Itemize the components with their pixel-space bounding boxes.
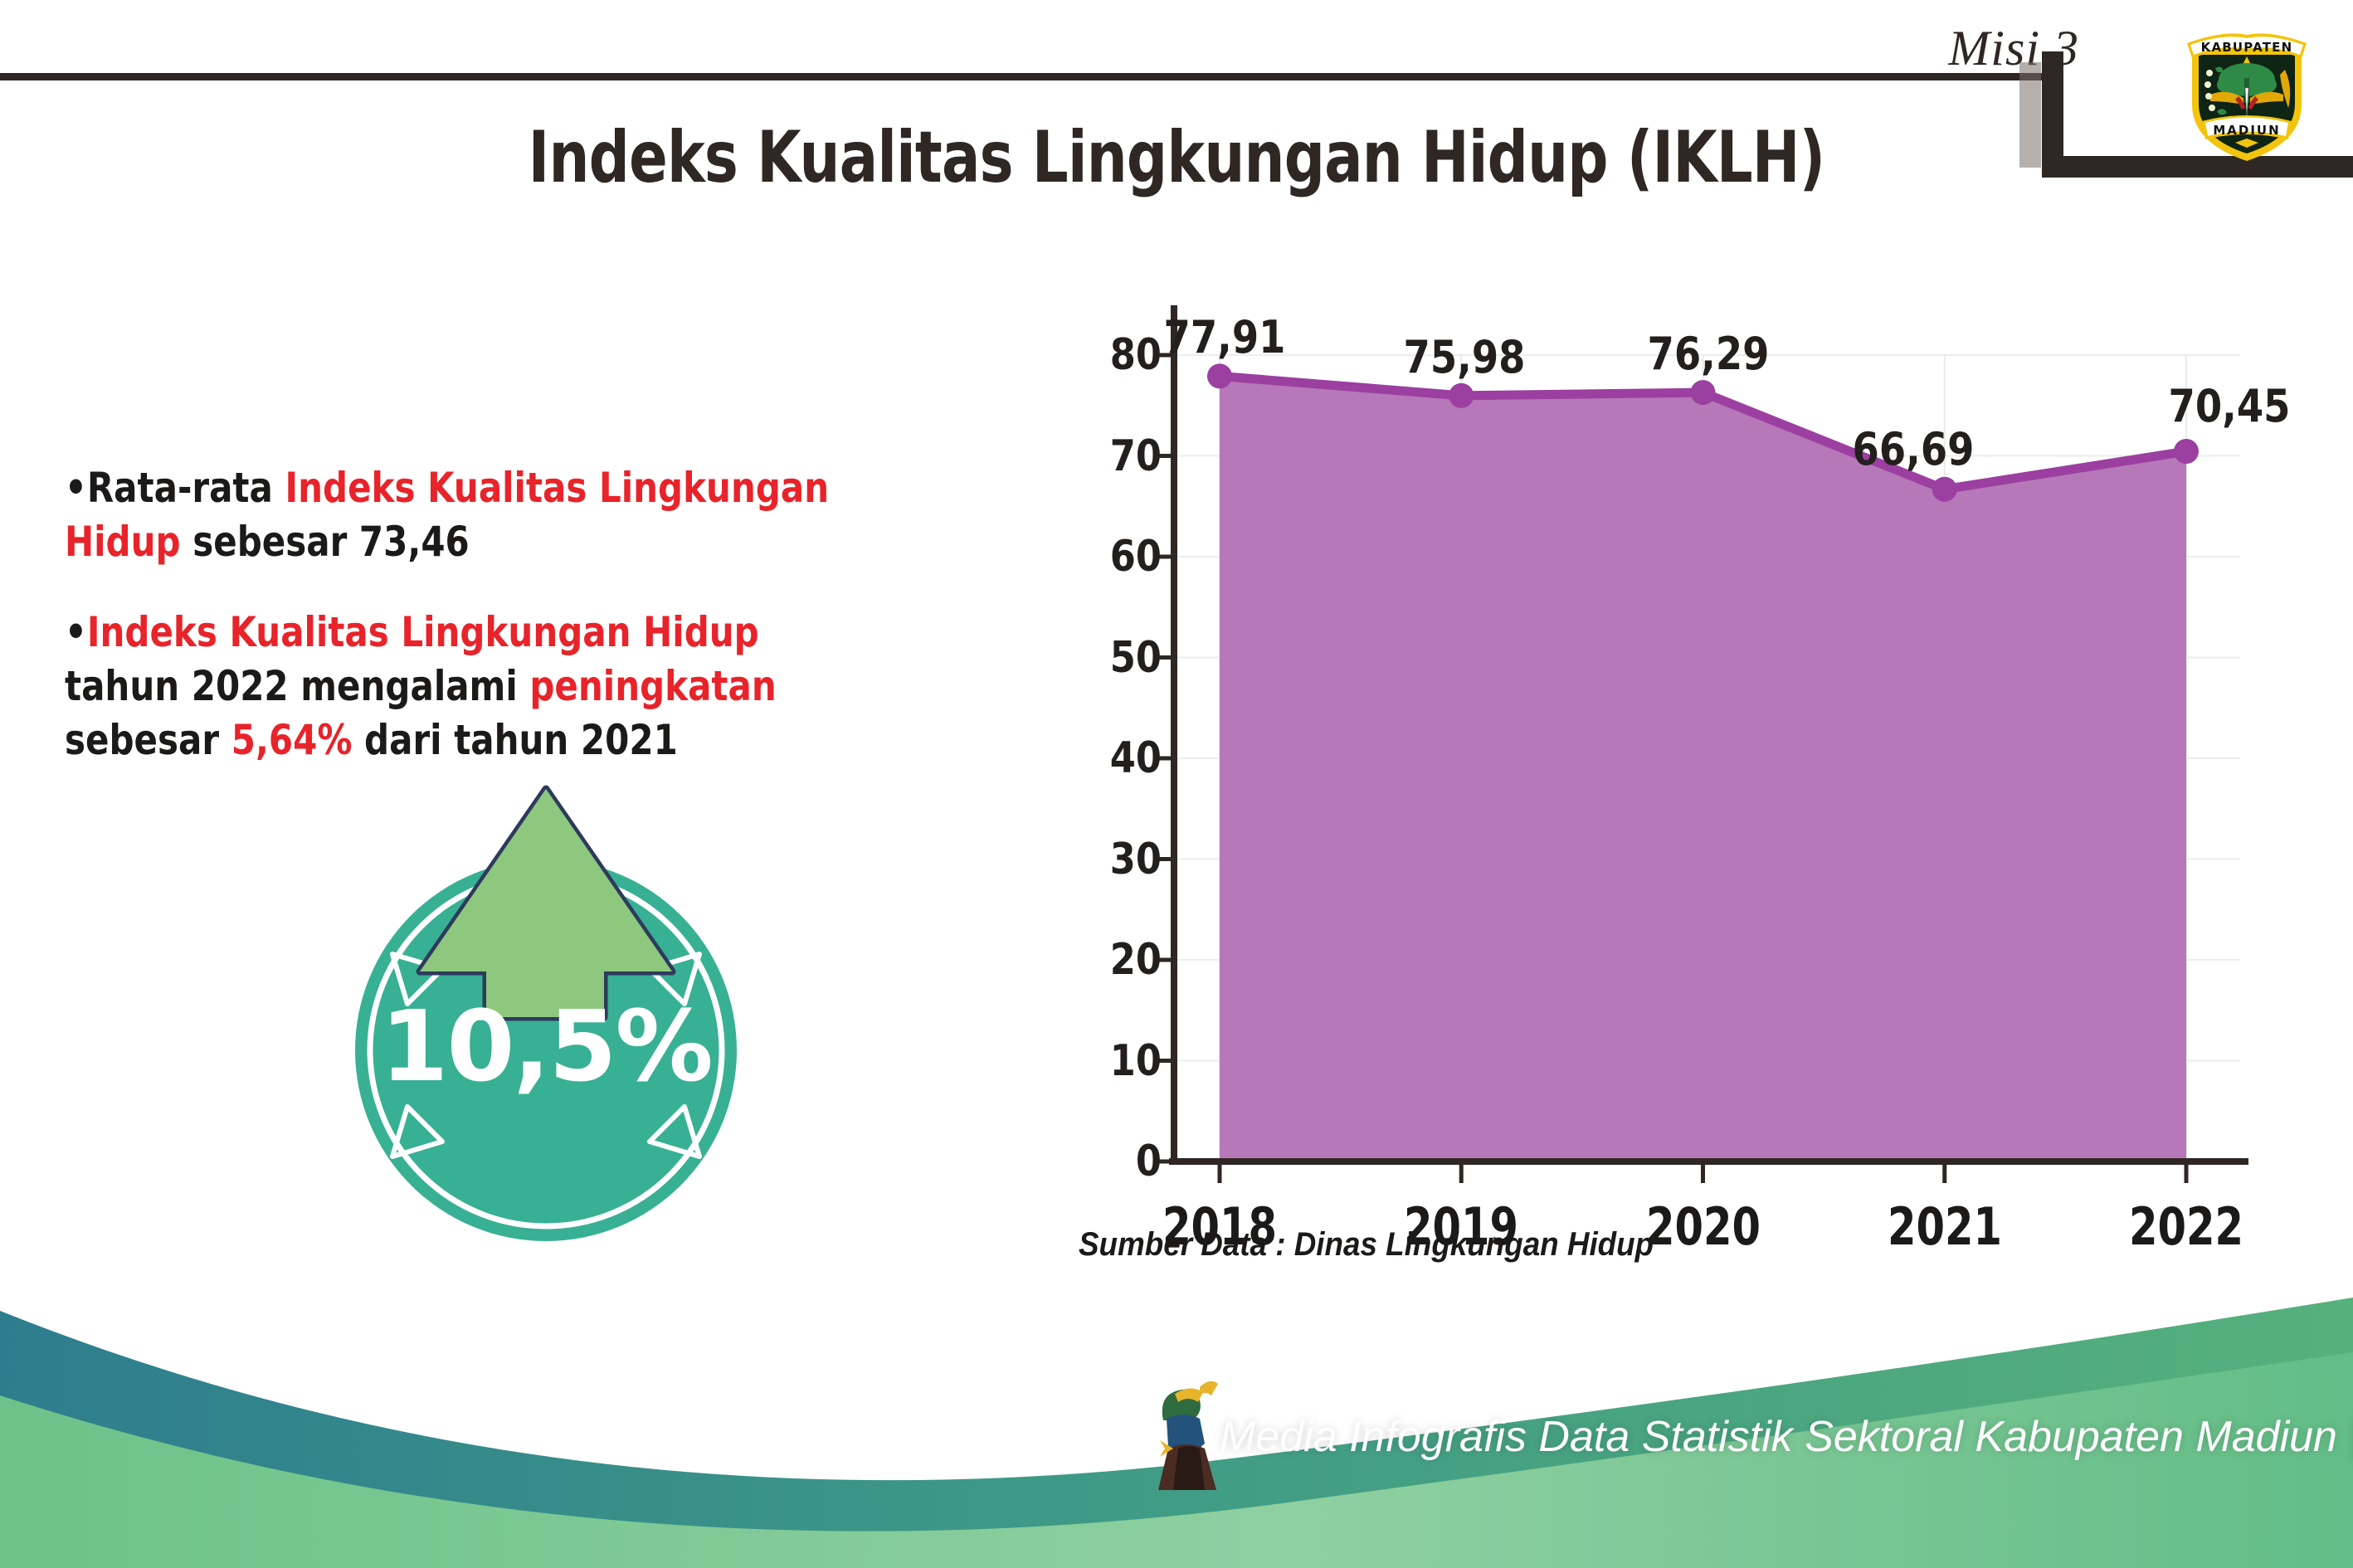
iklh-area-chart: 01020304050607080 20182019202020212022 7…: [979, 274, 2273, 1294]
growth-badge: 10,5%: [322, 752, 770, 1249]
slide-root: Misi 3 KABUPATEN: [0, 0, 2353, 1568]
x-tick-label: 2021: [1888, 1196, 2002, 1257]
x-tick-label: 2020: [1645, 1196, 1760, 1257]
y-tick-label: 60: [1022, 532, 1162, 582]
source-note: Sumber Data : Dinas Lingkungan Hidup: [1079, 1226, 1654, 1264]
bullet-1-run-4: sebesar: [65, 716, 231, 764]
badge-value: 10,5%: [322, 989, 770, 1103]
bullet-item-1: •Indeks Kualitas Lingkungan Hidup tahun …: [65, 606, 852, 767]
data-value-label: 70,45: [2169, 380, 2291, 432]
data-value-label: 66,69: [1852, 423, 1974, 475]
y-tick-label: 10: [1022, 1036, 1162, 1086]
kabupaten-madiun-emblem-icon: KABUPATEN MADIUN: [2180, 18, 2313, 166]
bullet-item-0: •Rata-rata Indeks Kualitas Lingkungan Hi…: [65, 461, 852, 569]
y-tick-label: 40: [1022, 733, 1162, 783]
svg-text:MADIUN: MADIUN: [2213, 123, 2280, 138]
y-tick-label: 50: [1022, 633, 1162, 683]
bullet-1-run-0: •: [65, 608, 87, 656]
bullet-1-run-2: tahun 2022 mengalami: [65, 662, 529, 710]
footer-banner: Media Infografis Data Statistik Sektoral…: [0, 1294, 2353, 1568]
y-tick-label: 0: [1022, 1137, 1162, 1186]
data-value-label: 77,91: [1164, 311, 1286, 363]
x-tick-label: 2022: [2129, 1196, 2243, 1257]
y-tick-label: 30: [1022, 835, 1162, 884]
bullet-1-run-3: peningkatan: [529, 662, 776, 710]
header-rule: [0, 73, 2049, 80]
bullet-1-run-1: Indeks Kualitas Lingkungan Hidup: [87, 608, 759, 656]
svg-text:KABUPATEN: KABUPATEN: [2201, 40, 2293, 55]
footer-caption: Media Infografis Data Statistik Sektoral…: [1220, 1412, 2353, 1462]
y-tick-label: 20: [1022, 935, 1162, 985]
data-value-label: 76,29: [1647, 328, 1769, 380]
y-tick-label: 70: [1022, 431, 1162, 481]
data-value-label: 75,98: [1404, 331, 1526, 383]
page-title: Indeks Kualitas Lingkungan Hidup (IKLH): [236, 116, 2118, 199]
y-tick-label: 80: [1022, 330, 1162, 380]
bullet-0-run-2: sebesar 73,46: [181, 518, 470, 566]
y-axis-tick-labels: 01020304050607080: [979, 274, 1162, 1294]
bullet-0-run-0: •Rata-rata: [65, 464, 285, 512]
